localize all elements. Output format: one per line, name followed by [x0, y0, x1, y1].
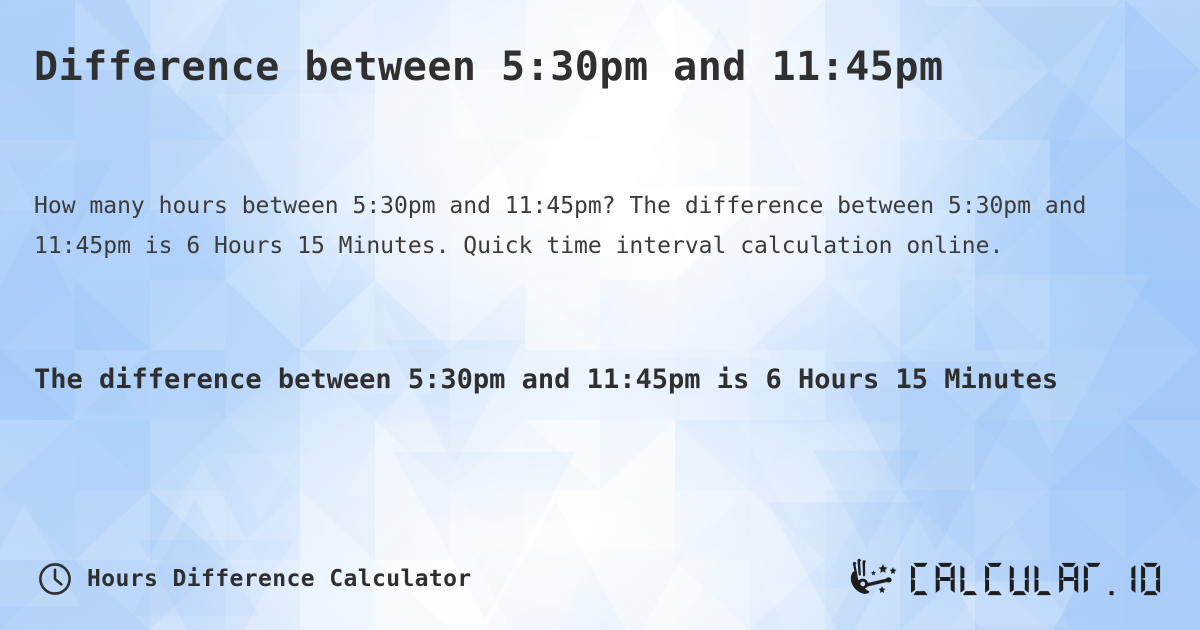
- clock-icon: [38, 562, 72, 596]
- lead-paragraph: How many hours between 5:30pm and 11:45p…: [34, 186, 1139, 266]
- footer-tool-name: Hours Difference Calculator: [87, 566, 472, 592]
- logo-wordmark-text: [911, 560, 1166, 598]
- footer-brand: Hours Difference Calculator: [38, 562, 472, 596]
- page-content: Difference between 5:30pm and 11:45pm Ho…: [0, 0, 1200, 630]
- page-title: Difference between 5:30pm and 11:45pm: [34, 44, 1174, 91]
- magic-wand-icon: [849, 557, 905, 601]
- site-logo[interactable]: [849, 557, 1166, 601]
- result-statement: The difference between 5:30pm and 11:45p…: [34, 355, 1164, 404]
- footer: Hours Difference Calculator: [0, 556, 1200, 602]
